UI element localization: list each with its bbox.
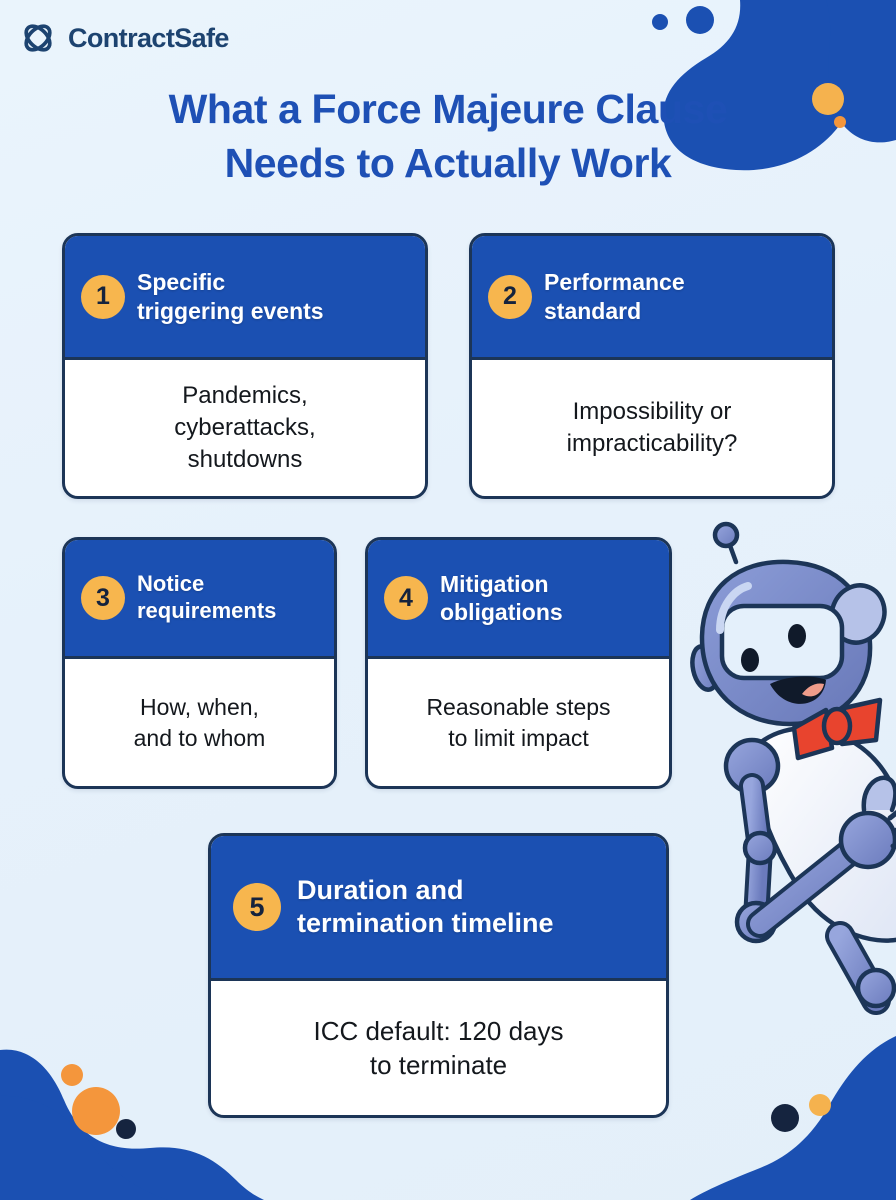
interlocking-rings-icon xyxy=(18,18,58,58)
card-title: Mitigation obligations xyxy=(440,570,563,626)
card-body: Pandemics,cyberattacks,shutdowns xyxy=(65,360,425,496)
bottom-left-blob-2 xyxy=(0,1096,168,1200)
card-title-line-1: Performance xyxy=(544,269,685,295)
card-title: Performance standard xyxy=(544,268,685,324)
card-number-badge: 1 xyxy=(81,275,125,319)
robot-elbow-left xyxy=(745,833,775,863)
robot-face-screen xyxy=(722,606,842,678)
card-body: Reasonable stepsto limit impact xyxy=(368,659,669,786)
card-title-line-1: Mitigation xyxy=(440,571,549,597)
card-title-line-2: triggering events xyxy=(137,298,324,324)
card-title: Duration and termination timeline xyxy=(297,874,554,940)
orange-dot-bottom-right xyxy=(809,1094,831,1116)
card-title-line-1: Specific xyxy=(137,269,225,295)
card-header: 5 Duration and termination timeline xyxy=(211,836,666,981)
info-card-5: 5 Duration and termination timeline ICC … xyxy=(208,833,669,1118)
robot-knee xyxy=(858,970,894,1006)
card-header: 2 Performance standard xyxy=(472,236,832,360)
orange-dot-small-bottom-left xyxy=(61,1064,83,1086)
card-body: How, when,and to whom xyxy=(65,659,334,786)
card-title-line-2: obligations xyxy=(440,599,563,625)
robot-eye-right xyxy=(788,624,806,648)
blue-dot-large-top xyxy=(686,6,714,34)
card-number-badge: 4 xyxy=(384,576,428,620)
page-title: What a Force Majeure Clause Needs to Act… xyxy=(70,82,826,190)
card-body: Impossibility orimpracticability? xyxy=(472,360,832,496)
orange-circle-bottom-left xyxy=(72,1087,120,1135)
robot-hand xyxy=(841,813,895,867)
navy-dot-bottom-left xyxy=(116,1119,136,1139)
card-title-line-1: Duration and xyxy=(297,875,464,905)
orange-dot-top-right xyxy=(834,116,846,128)
card-title-line-2: termination timeline xyxy=(297,908,554,938)
card-header: 4 Mitigation obligations xyxy=(368,540,669,659)
info-card-4: 4 Mitigation obligations Reasonable step… xyxy=(365,537,672,789)
info-card-1: 1 Specific triggering events Pandemics,c… xyxy=(62,233,428,499)
bottom-right-blob xyxy=(690,1036,896,1200)
brand-name: ContractSafe xyxy=(68,23,229,54)
card-title: Specific triggering events xyxy=(137,268,324,324)
info-card-3: 3 Notice requirements How, when,and to w… xyxy=(62,537,337,789)
robot-mascot-icon xyxy=(690,518,896,1018)
robot-eye-left xyxy=(741,648,759,672)
card-title-line-2: requirements xyxy=(137,598,276,623)
info-card-2: 2 Performance standard Impossibility ori… xyxy=(469,233,835,499)
page-title-line-1: What a Force Majeure Clause xyxy=(70,82,826,136)
card-number-badge: 5 xyxy=(233,883,281,931)
top-right-blob-secondary xyxy=(826,0,896,142)
navy-dot-bottom-right xyxy=(771,1104,799,1132)
card-number-badge: 3 xyxy=(81,576,125,620)
card-body: ICC default: 120 daysto terminate xyxy=(211,981,666,1115)
card-header: 3 Notice requirements xyxy=(65,540,334,659)
card-title-line-2: standard xyxy=(544,298,641,324)
card-title: Notice requirements xyxy=(137,571,276,625)
card-title-line-1: Notice xyxy=(137,571,204,596)
robot-antenna-ball xyxy=(715,524,737,546)
blue-dot-small-top xyxy=(652,14,668,30)
robot-bowtie-knot xyxy=(824,709,850,743)
page-title-line-2: Needs to Actually Work xyxy=(70,136,826,190)
card-header: 1 Specific triggering events xyxy=(65,236,425,360)
brand-logo[interactable]: ContractSafe xyxy=(18,18,229,58)
card-number-badge: 2 xyxy=(488,275,532,319)
